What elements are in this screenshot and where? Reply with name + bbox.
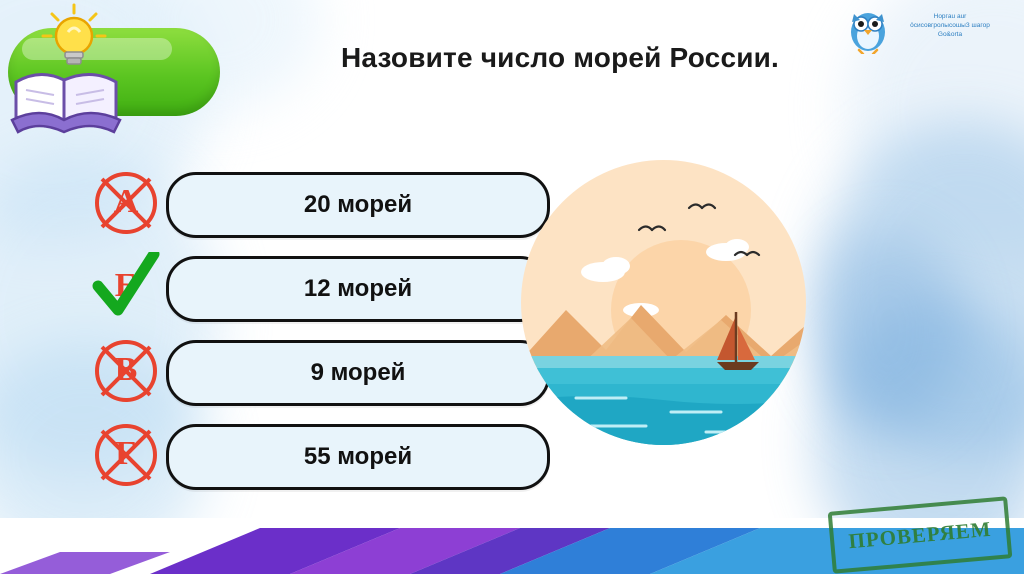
sea-sunset-illustration	[521, 160, 806, 445]
answer-option-b[interactable]: Б 12 морей	[88, 252, 468, 336]
logo-text-line3: Go&orta	[894, 30, 1006, 39]
page-title: Назовите число морей России.	[230, 42, 890, 74]
cross-icon	[88, 420, 164, 490]
open-book-icon	[10, 62, 122, 134]
answer-option-g[interactable]: Г 55 морей	[88, 420, 468, 504]
slide: Назовите число морей России. Hopгau aur …	[0, 0, 1024, 574]
answer-option-v[interactable]: В 9 морей	[88, 336, 468, 420]
logo-text-line1: Hopгau aur	[894, 12, 1006, 21]
answer-text[interactable]: 9 морей	[166, 340, 550, 406]
logo-text-line2: öсисовгролысошыЗ шагор	[894, 21, 1006, 30]
answer-option-a[interactable]: А 20 морей	[88, 168, 468, 252]
owl-logo: Hopгau aur öсисовгролысошыЗ шагор Go&ort…	[846, 6, 1006, 58]
answer-letter-b-wrap: Б	[88, 252, 164, 322]
answer-list: А 20 морей Б 12 морей В	[88, 168, 468, 504]
answer-text[interactable]: 12 морей	[166, 256, 550, 322]
cross-icon	[88, 336, 164, 406]
answer-text[interactable]: 55 морей	[166, 424, 550, 490]
answer-letter-a-wrap: А	[88, 168, 164, 238]
owl-icon	[846, 6, 890, 54]
stamp-text: ПРОВЕРЯЕМ	[828, 496, 1013, 573]
cross-icon	[88, 168, 164, 238]
answer-letter-v-wrap: В	[88, 336, 164, 406]
logo-text: Hopгau aur öсисовгролысошыЗ шагор Go&ort…	[894, 12, 1006, 39]
answer-letter-g-wrap: Г	[88, 420, 164, 490]
status-badge: ПРОВЕРЯЕМ	[830, 504, 1010, 566]
background-blob	[814, 230, 964, 430]
answer-text[interactable]: 20 морей	[166, 172, 550, 238]
check-icon	[88, 252, 164, 322]
